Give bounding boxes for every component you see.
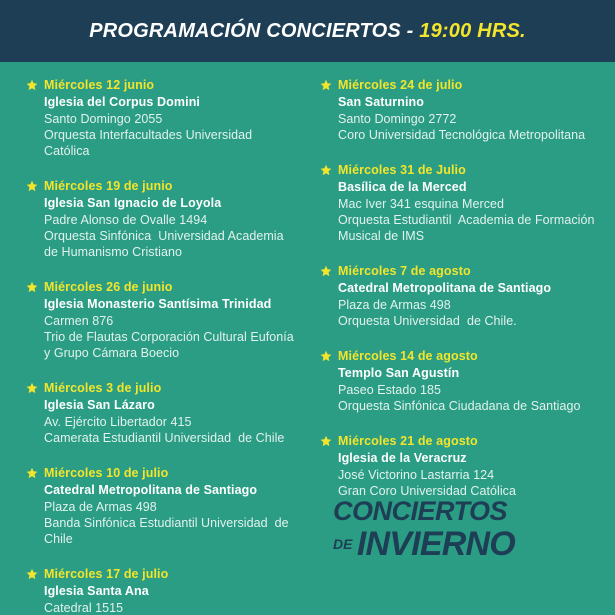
concert-entry: Miércoles 14 de agostoTemplo San Agustín… (320, 348, 601, 414)
concert-ensemble: Orquesta Sinfónica Universidad Academia … (44, 228, 298, 260)
concert-column-left: Miércoles 12 junioIglesia del Corpus Dom… (0, 62, 308, 615)
star-icon (320, 265, 332, 277)
concert-venue: Iglesia Santa Ana (44, 583, 298, 599)
concert-date: Miércoles 26 de junio (44, 279, 298, 295)
concert-address: Santo Domingo 2772 (338, 111, 601, 127)
star-icon (320, 79, 332, 91)
concert-address: Catedral 1515 (44, 600, 298, 615)
star-icon (320, 350, 332, 362)
page-title: PROGRAMACIÓN CONCIERTOS - 19:00 HRS. (89, 21, 526, 41)
star-icon (26, 281, 38, 293)
concert-venue: Catedral Metropolitana de Santiago (338, 280, 601, 296)
concert-date: Miércoles 24 de julio (338, 77, 601, 93)
logo-line-conciertos: CONCIERTOS (333, 498, 515, 525)
concert-venue: Iglesia San Lázaro (44, 397, 298, 413)
concert-venue: Iglesia del Corpus Domini (44, 94, 298, 110)
concert-venue: San Saturnino (338, 94, 601, 110)
concert-column-right: Miércoles 24 de julioSan SaturninoSanto … (308, 62, 615, 518)
concert-entry: Miércoles 19 de junioIglesia San Ignacio… (26, 178, 298, 260)
star-icon (26, 467, 38, 479)
poster-root: PROGRAMACIÓN CONCIERTOS - 19:00 HRS. Mié… (0, 0, 615, 615)
logo-word-de: DE (333, 536, 352, 552)
star-icon (320, 435, 332, 447)
concert-venue: Catedral Metropolitana de Santiago (44, 482, 298, 498)
header-bar: PROGRAMACIÓN CONCIERTOS - 19:00 HRS. (0, 0, 615, 62)
concert-address: Av. Ejército Libertador 415 (44, 414, 298, 430)
brand-logo: CONCIERTOS DE INVIERNO (333, 498, 515, 561)
concert-address: Santo Domingo 2055 (44, 111, 298, 127)
concert-entry: Miércoles 21 de agostoIglesia de la Vera… (320, 433, 601, 499)
concert-venue: Iglesia de la Veracruz (338, 450, 601, 466)
concert-entry: Miércoles 10 de julioCatedral Metropolit… (26, 465, 298, 547)
concert-entry: Miércoles 3 de julioIglesia San LázaroAv… (26, 380, 298, 446)
concert-date: Miércoles 14 de agosto (338, 348, 601, 364)
concert-date: Miércoles 12 junio (44, 77, 298, 93)
concert-entry: Miércoles 17 de julioIglesia Santa AnaCa… (26, 566, 298, 615)
concert-entry: Miércoles 7 de agostoCatedral Metropolit… (320, 263, 601, 329)
concert-venue: Templo San Agustín (338, 365, 601, 381)
concert-entry: Miércoles 24 de julioSan SaturninoSanto … (320, 77, 601, 143)
concert-date: Miércoles 31 de Julio (338, 162, 601, 178)
concert-address: Paseo Estado 185 (338, 382, 601, 398)
concert-ensemble: Banda Sinfónica Estudiantil Universidad … (44, 515, 298, 547)
star-icon (320, 164, 332, 176)
concert-date: Miércoles 7 de agosto (338, 263, 601, 279)
concert-date: Miércoles 19 de junio (44, 178, 298, 194)
concert-columns: Miércoles 12 junioIglesia del Corpus Dom… (0, 62, 615, 615)
concert-ensemble: Orquesta Interfacultades Universidad Cat… (44, 127, 298, 159)
concert-venue: Basílica de la Merced (338, 179, 601, 195)
star-icon (26, 568, 38, 580)
logo-line-de-invierno: DE INVIERNO (333, 527, 515, 561)
star-icon (26, 79, 38, 91)
concert-date: Miércoles 17 de julio (44, 566, 298, 582)
concert-entry: Miércoles 12 junioIglesia del Corpus Dom… (26, 77, 298, 159)
concert-date: Miércoles 21 de agosto (338, 433, 601, 449)
concert-ensemble: Trio de Flautas Corporación Cultural Euf… (44, 329, 298, 361)
concert-address: Mac Iver 341 esquina Merced (338, 196, 601, 212)
concert-date: Miércoles 10 de julio (44, 465, 298, 481)
concert-ensemble: Camerata Estudiantil Universidad de Chil… (44, 430, 298, 446)
logo-word-invierno: INVIERNO (357, 525, 515, 563)
page-title-time: 19:00 HRS. (419, 20, 526, 42)
concert-address: Padre Alonso de Ovalle 1494 (44, 212, 298, 228)
concert-ensemble: Orquesta Sinfónica Ciudadana de Santiago (338, 398, 601, 414)
concert-address: Plaza de Armas 498 (338, 297, 601, 313)
star-icon (26, 382, 38, 394)
concert-venue: Iglesia Monasterio Santísima Trinidad (44, 296, 298, 312)
concert-ensemble: Orquesta Universidad de Chile. (338, 313, 601, 329)
concert-ensemble: Orquesta Estudiantil Academia de Formaci… (338, 212, 601, 244)
concert-address: Plaza de Armas 498 (44, 499, 298, 515)
concert-address: José Victorino Lastarria 124 (338, 467, 601, 483)
page-title-main: PROGRAMACIÓN CONCIERTOS - (89, 20, 419, 42)
concert-date: Miércoles 3 de julio (44, 380, 298, 396)
concert-address: Carmen 876 (44, 313, 298, 329)
concert-venue: Iglesia San Ignacio de Loyola (44, 195, 298, 211)
star-icon (26, 180, 38, 192)
concert-entry: Miércoles 31 de JulioBasílica de la Merc… (320, 162, 601, 244)
concert-entry: Miércoles 26 de junioIglesia Monasterio … (26, 279, 298, 361)
concert-ensemble: Coro Universidad Tecnológica Metropolita… (338, 127, 601, 143)
